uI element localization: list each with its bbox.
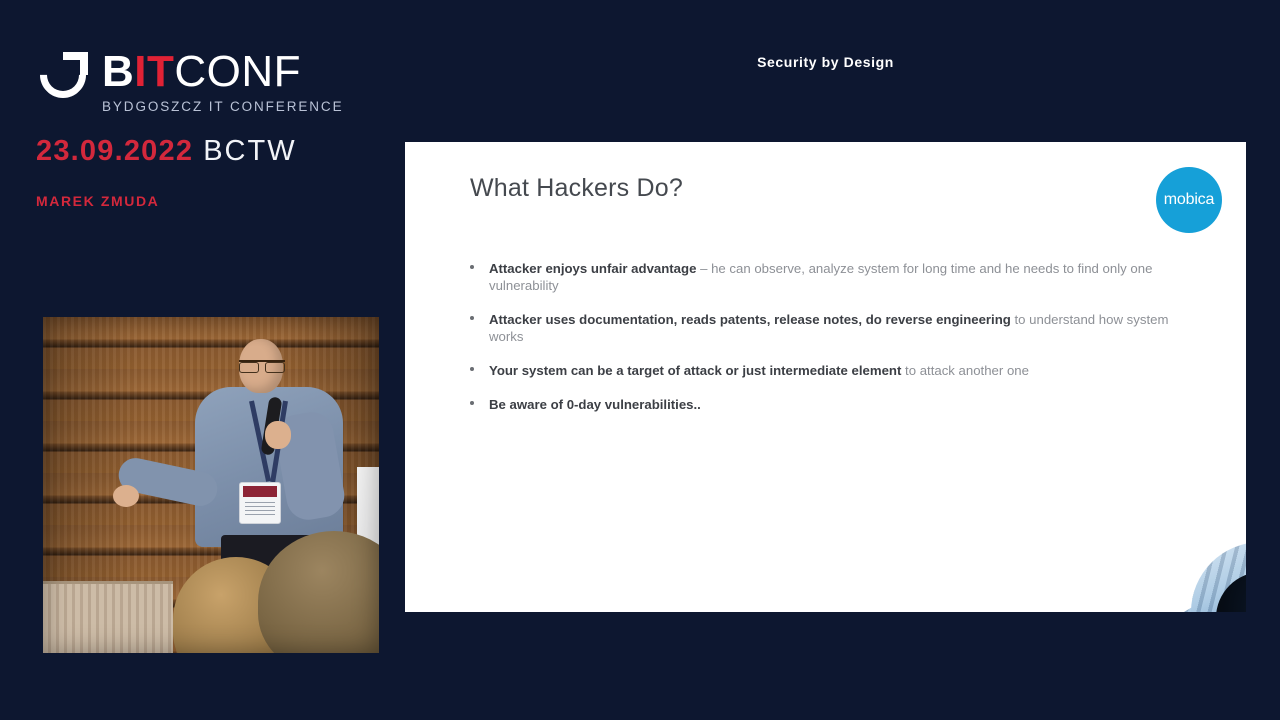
bullet-bold-text: Be aware of 0-day vulnerabilities..	[489, 397, 701, 412]
bullet-dot-icon	[470, 265, 474, 269]
event-dateline: 23.09.2022 BCTW	[36, 135, 297, 168]
wordmark-it: IT	[134, 47, 174, 96]
speaker-right-hand	[265, 421, 291, 449]
list-item: Attacker enjoys unfair advantage – he ca…	[467, 260, 1179, 294]
list-item: Your system can be a target of attack or…	[467, 362, 1179, 379]
wordmark-conf: CONF	[174, 47, 301, 96]
slide-bullet-list: Attacker enjoys unfair advantage – he ca…	[467, 260, 1179, 413]
logo-bracket-vertical	[80, 52, 88, 75]
wordmark-b: B	[102, 47, 134, 96]
event-edition-label: BCTW	[203, 135, 296, 167]
speaker-badge	[239, 482, 281, 524]
bullet-bold-text: Attacker enjoys unfair advantage	[489, 261, 696, 276]
list-item: Be aware of 0-day vulnerabilities..	[467, 396, 1179, 413]
slide-canvas: What Hackers Do? mobica Attacker enjoys …	[405, 142, 1246, 612]
bitconf-bracket-logo-icon	[38, 50, 94, 100]
bullet-dot-icon	[470, 316, 474, 320]
presentation-stage: BITCONF BYDGOSZCZ IT CONFERENCE 23.09.20…	[0, 0, 1280, 720]
bullet-dot-icon	[470, 367, 474, 371]
radiator	[43, 581, 173, 653]
bullet-dot-icon	[470, 401, 474, 405]
brand-block: BITCONF BYDGOSZCZ IT CONFERENCE	[38, 50, 343, 114]
speaker-left-hand	[113, 485, 139, 507]
slide-title: What Hackers Do?	[470, 174, 683, 203]
logo-row: BITCONF BYDGOSZCZ IT CONFERENCE	[38, 50, 343, 114]
wordmark: BITCONF	[102, 50, 343, 94]
speaker-name: MAREK ZMUDA	[36, 193, 159, 209]
bullet-rest-text: to attack another one	[901, 363, 1029, 378]
event-date: 23.09.2022	[36, 135, 193, 167]
speaker-video-feed	[43, 317, 379, 653]
wordmark-group: BITCONF BYDGOSZCZ IT CONFERENCE	[102, 50, 343, 114]
bullet-bold-text: Attacker uses documentation, reads paten…	[489, 312, 1011, 327]
mobica-logo-text: mobica	[1164, 191, 1214, 209]
glasses-icon	[239, 360, 285, 369]
bullet-bold-text: Your system can be a target of attack or…	[489, 363, 901, 378]
mobica-logo: mobica	[1156, 167, 1222, 233]
event-edition	[193, 135, 203, 167]
hooded-hacker-illustration	[1131, 542, 1246, 612]
brand-subtitle: BYDGOSZCZ IT CONFERENCE	[102, 99, 343, 114]
page-title: Security by Design	[405, 54, 1246, 70]
list-item: Attacker uses documentation, reads paten…	[467, 311, 1179, 345]
